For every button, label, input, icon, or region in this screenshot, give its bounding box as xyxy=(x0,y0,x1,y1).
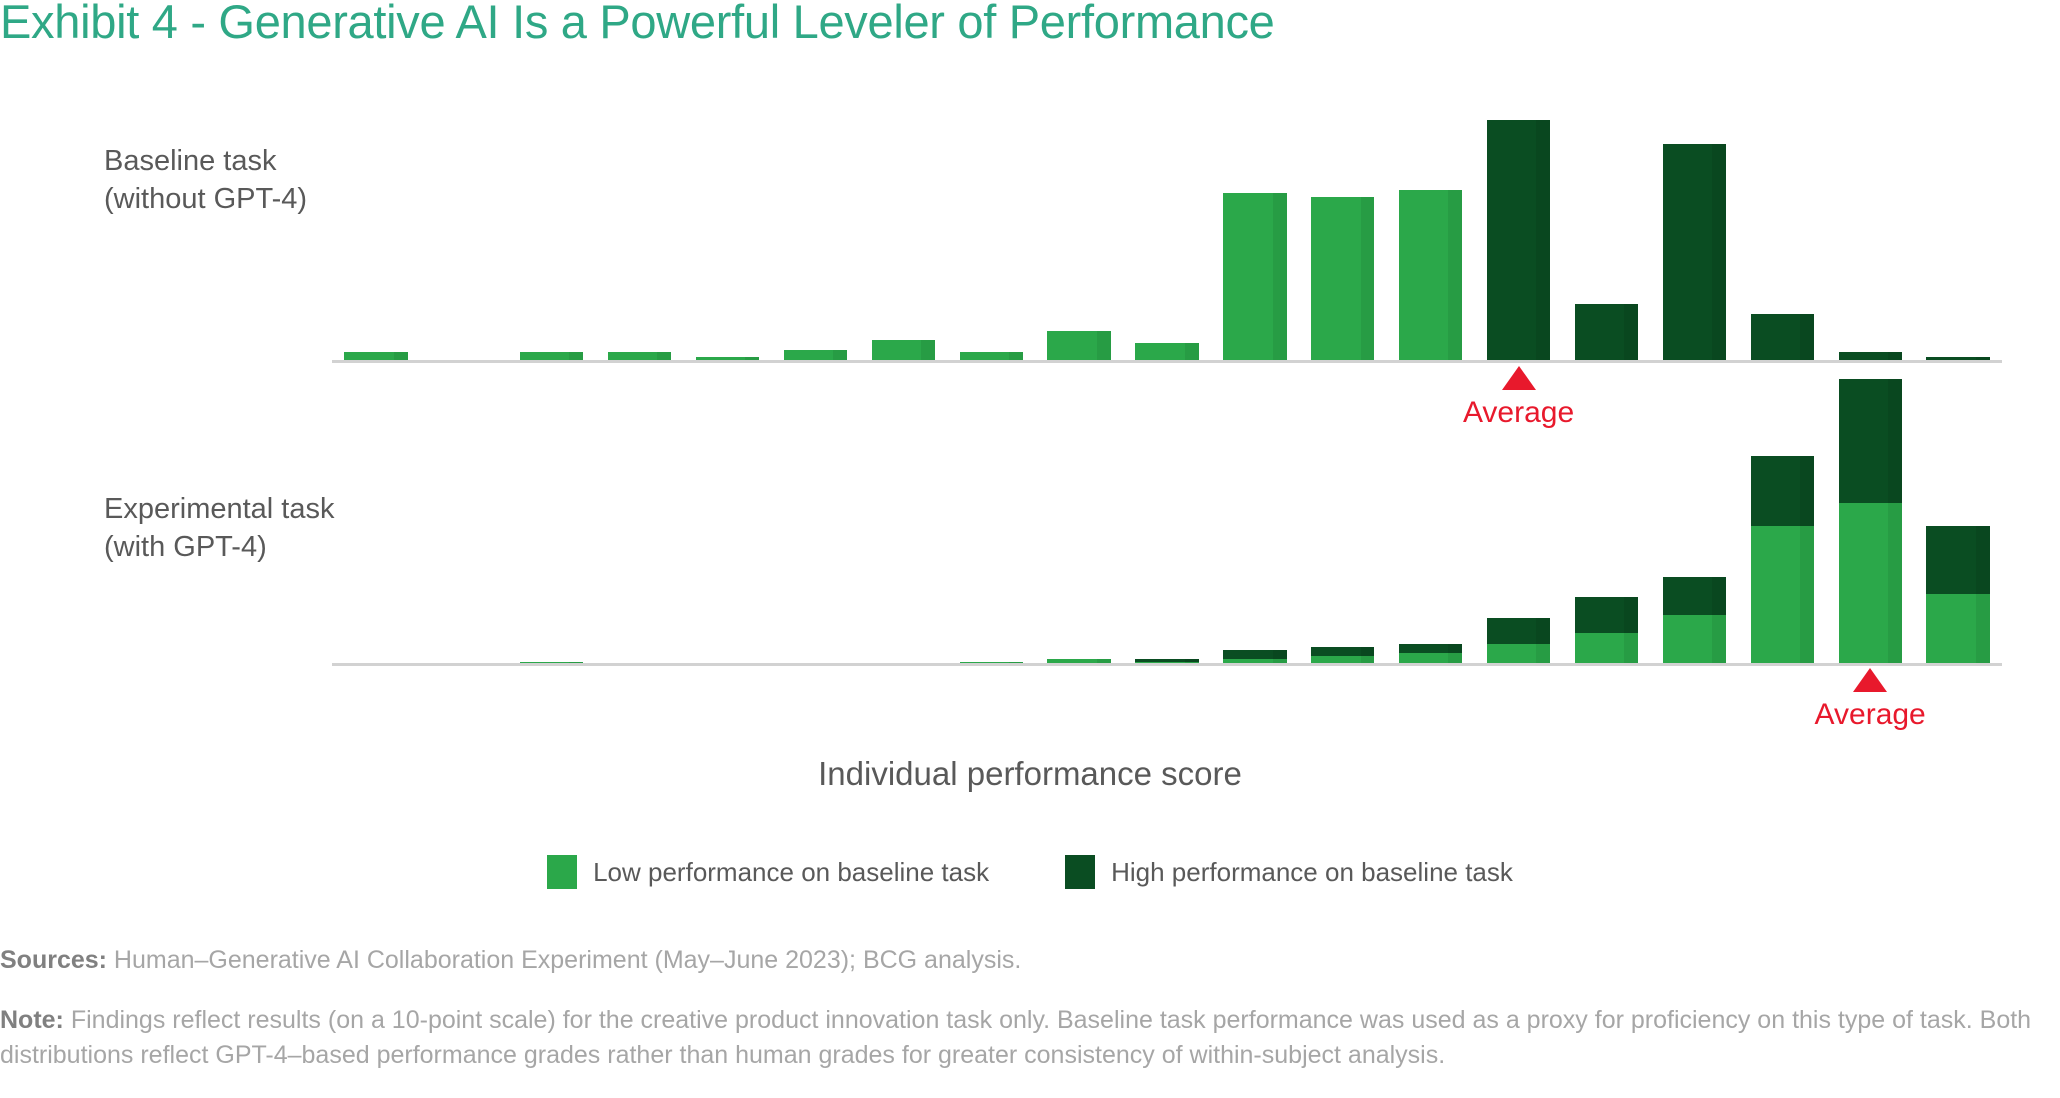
average-triangle-icon xyxy=(1502,366,1536,390)
bar-14 xyxy=(1487,618,1550,665)
baseline-task-chart xyxy=(332,120,2002,362)
bar-segment-low xyxy=(1575,633,1638,665)
note-text: Findings reflect results (on a 10-point … xyxy=(0,1006,2031,1069)
bar-segment-low xyxy=(1926,594,1989,665)
bar-9 xyxy=(1047,331,1110,362)
legend-item-high: High performance on baseline task xyxy=(1065,855,1513,889)
bar-15 xyxy=(1575,597,1638,665)
bar-13 xyxy=(1399,644,1462,665)
bar-15 xyxy=(1575,304,1638,362)
bar-segment-high xyxy=(1926,526,1989,594)
baseline-panel-label-line1: Baseline task xyxy=(104,142,307,180)
bar-segment-low xyxy=(1223,193,1286,362)
bar-segment-high xyxy=(1399,644,1462,653)
bar-segment-high xyxy=(1487,120,1550,362)
legend-swatch-low-icon xyxy=(547,855,577,889)
bar-segment-high xyxy=(1751,314,1814,362)
bar-19 xyxy=(1926,526,1989,665)
bar-segment-low xyxy=(1311,197,1374,362)
experimental-panel-label-line2: (with GPT-4) xyxy=(104,528,335,566)
legend-label-high: High performance on baseline task xyxy=(1111,857,1513,888)
legend-label-low: Low performance on baseline task xyxy=(593,857,989,888)
bar-segment-high xyxy=(1663,144,1726,362)
sources-footnote: Sources: Human–Generative AI Collaborati… xyxy=(0,943,2056,978)
bar-18 xyxy=(1839,379,1902,665)
baseline-panel-label-line2: (without GPT-4) xyxy=(104,180,307,218)
sources-text: Human–Generative AI Collaboration Experi… xyxy=(107,946,1021,974)
bar-segment-low xyxy=(1751,526,1814,665)
experimental-panel-label: Experimental task (with GPT-4) xyxy=(104,490,335,567)
baseline-chart-axis xyxy=(332,360,2002,363)
bar-16 xyxy=(1663,577,1726,665)
bar-11 xyxy=(1223,193,1286,362)
average-triangle-icon xyxy=(1853,668,1887,692)
bar-17 xyxy=(1751,314,1814,362)
average-marker-baseline: Average xyxy=(1449,366,1589,430)
bar-segment-high xyxy=(1663,577,1726,615)
experimental-panel-label-line1: Experimental task xyxy=(104,490,335,528)
bar-7 xyxy=(872,340,935,362)
bar-segment-low xyxy=(1839,503,1902,665)
note-footnote: Note: Findings reflect results (on a 10-… xyxy=(0,1003,2056,1072)
bar-13 xyxy=(1399,190,1462,362)
bar-segment-low xyxy=(1663,615,1726,665)
bar-segment-low xyxy=(1487,644,1550,665)
baseline-panel-label: Baseline task (without GPT-4) xyxy=(104,142,307,219)
bar-17 xyxy=(1751,456,1814,665)
legend-item-low: Low performance on baseline task xyxy=(547,855,989,889)
bar-segment-high xyxy=(1575,597,1638,632)
sources-label: Sources: xyxy=(0,946,107,974)
average-label-experimental: Average xyxy=(1800,698,1940,732)
page-title: Exhibit 4 - Generative AI Is a Powerful … xyxy=(0,0,1275,49)
average-label-baseline: Average xyxy=(1449,396,1589,430)
note-label: Note: xyxy=(0,1006,64,1034)
bar-segment-high xyxy=(1575,304,1638,362)
x-axis-title: Individual performance score xyxy=(0,755,2060,793)
bar-segment-high xyxy=(1751,456,1814,527)
bar-segment-low xyxy=(1047,331,1110,362)
experimental-task-chart xyxy=(332,370,2002,665)
bar-segment-low xyxy=(872,340,935,362)
bar-segment-high xyxy=(1223,650,1286,659)
chart-legend: Low performance on baseline task High pe… xyxy=(0,855,2060,889)
bar-16 xyxy=(1663,144,1726,362)
bar-segment-high xyxy=(1839,379,1902,503)
bar-12 xyxy=(1311,197,1374,362)
bar-segment-high xyxy=(1487,618,1550,645)
legend-swatch-high-icon xyxy=(1065,855,1095,889)
bar-segment-low xyxy=(1399,190,1462,362)
average-marker-experimental: Average xyxy=(1800,668,1940,732)
bar-segment-high xyxy=(1311,647,1374,656)
bar-14 xyxy=(1487,120,1550,362)
experimental-chart-axis xyxy=(332,663,2002,666)
